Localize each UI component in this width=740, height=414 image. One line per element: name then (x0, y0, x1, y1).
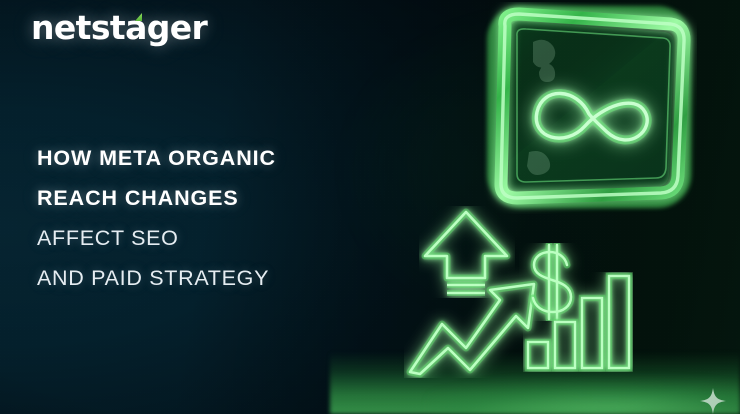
headline-line-3: AFFECT SEO (37, 218, 367, 258)
floor-highlight (430, 380, 740, 414)
headline-line-4: AND PAID STRATEGY (37, 258, 367, 298)
headline-line-1: HOW META ORGANIC (37, 138, 367, 178)
headline: HOW META ORGANIC REACH CHANGES AFFECT SE… (37, 138, 367, 298)
brand-logo-text: netstager (31, 8, 207, 47)
headline-line-2: REACH CHANGES (37, 178, 367, 218)
brand-logo[interactable]: netstager (31, 6, 207, 48)
promo-banner: netstager HOW META ORGANIC REACH CHANGES… (0, 0, 740, 414)
